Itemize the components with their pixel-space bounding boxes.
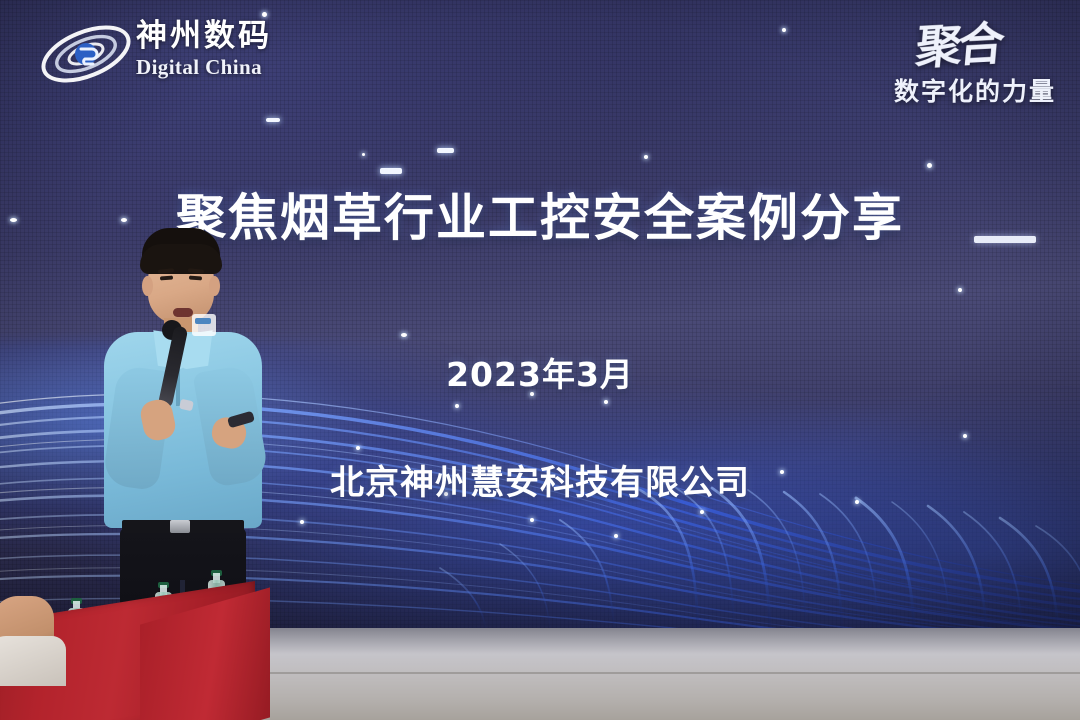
- particle-dot: [614, 534, 618, 538]
- particle-dot: [356, 446, 360, 450]
- particle-dot: [644, 155, 648, 159]
- particle-dash: [380, 168, 402, 174]
- event-logo: 聚合 数字化的力量: [804, 18, 1056, 116]
- particle-dot: [927, 163, 932, 168]
- speaker-mouth: [173, 308, 193, 317]
- digital-china-logo: 神州数码 Digital China: [38, 16, 288, 94]
- particle-dot: [401, 333, 407, 337]
- particle-dot: [455, 404, 459, 408]
- particle-dash: [266, 118, 280, 122]
- particle-dot: [958, 288, 962, 292]
- speaker-badge-logo-icon: [195, 318, 211, 324]
- speaker-ear-right: [209, 276, 220, 296]
- particle-dot: [700, 510, 704, 514]
- particle-dot: [300, 520, 304, 524]
- digital-china-wordmark: 神州数码 Digital China: [136, 20, 286, 80]
- brand-name-cn: 神州数码: [136, 20, 286, 53]
- particle-dot: [530, 518, 534, 522]
- brand-name-en: Digital China: [136, 54, 286, 80]
- particle-dot: [782, 28, 786, 32]
- speaker-hair-front: [140, 244, 222, 274]
- slide-accent-dash: [974, 236, 1036, 243]
- digital-china-swirl-icon: [38, 20, 134, 88]
- speaker-ear-left: [142, 276, 153, 296]
- speaker-belt-buckle: [170, 520, 190, 533]
- particle-dot: [604, 400, 608, 404]
- foreground-attendee-shoulder: [0, 636, 66, 686]
- conference-stage-photo: 神州数码 Digital China 聚合 数字化的力量 聚焦烟草行业工控安全案…: [0, 0, 1080, 720]
- particle-dash: [437, 148, 454, 153]
- particle-dot: [362, 153, 365, 156]
- speaker-eye-right: [189, 276, 202, 281]
- particle-dot: [963, 434, 967, 438]
